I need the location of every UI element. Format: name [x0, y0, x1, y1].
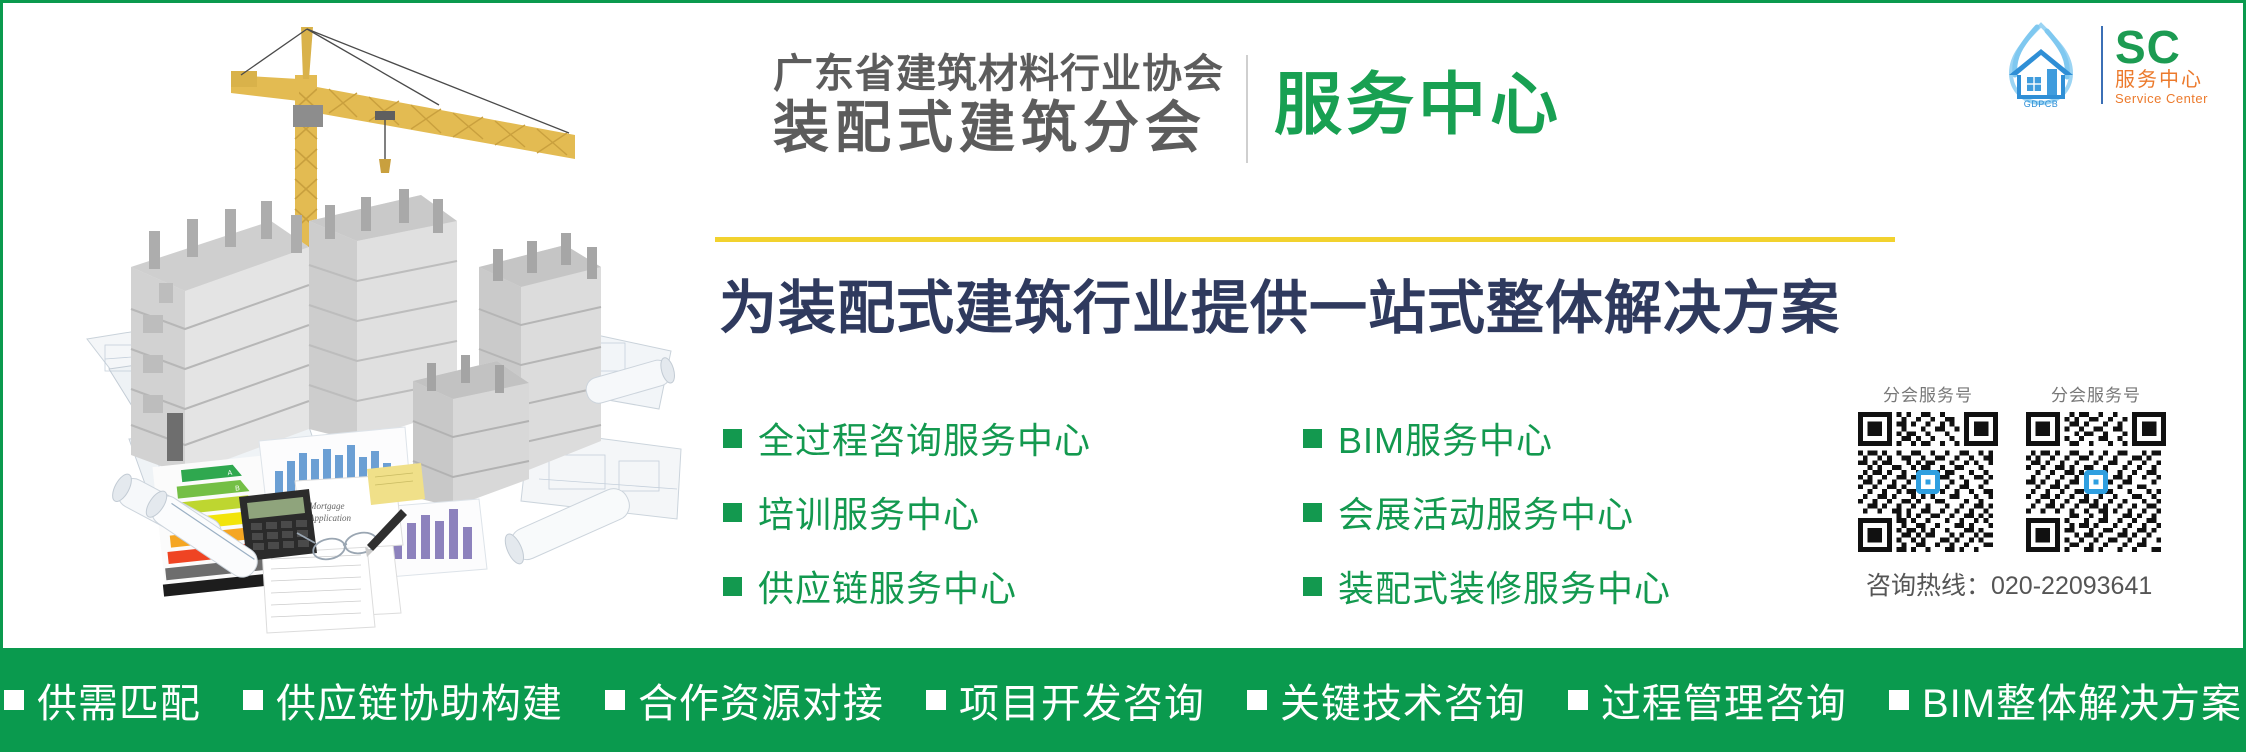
footer-tag-label: 供应链协助构建: [276, 671, 563, 729]
service-label: 供应链服务中心: [758, 560, 1017, 612]
square-bullet-icon: [1889, 690, 1909, 710]
qr-code-icon[interactable]: [1858, 412, 1998, 552]
footer-tag[interactable]: 供应链协助构建: [243, 671, 563, 729]
svg-text:Application: Application: [308, 513, 351, 523]
square-bullet-icon: [1303, 429, 1322, 448]
service-label: 培训服务中心: [758, 486, 980, 538]
square-bullet-icon: [926, 690, 946, 710]
square-bullet-icon: [723, 503, 742, 522]
footer-tag[interactable]: 项目开发咨询: [926, 671, 1205, 729]
square-bullet-icon: [1303, 577, 1322, 596]
footer-tag[interactable]: 过程管理咨询: [1568, 671, 1847, 729]
association-names: 广东省建筑材料行业协会 装配式建筑分会: [773, 51, 1246, 159]
footer-tag-bar: 供需匹配 供应链协助构建 合作资源对接 项目开发咨询 关键技术咨询 过程管理咨询…: [0, 648, 2246, 752]
title-divider: [1246, 55, 1248, 163]
list-item[interactable]: 装配式装修服务中心: [1303, 559, 1793, 613]
logo-english-name: Service Center: [2115, 91, 2208, 106]
svg-text:Mortgage: Mortgage: [308, 501, 345, 511]
list-item[interactable]: 会展活动服务中心: [1303, 485, 1793, 539]
list-item[interactable]: BIM服务中心: [1303, 411, 1793, 465]
branch-name: 装配式建筑分会: [773, 97, 1207, 159]
sticky-note: [367, 463, 425, 505]
square-bullet-icon: [1247, 690, 1267, 710]
footer-tag-label: 合作资源对接: [638, 671, 884, 729]
service-center-title: 服务中心: [1274, 51, 1562, 159]
footer-tag-label: 供需匹配: [37, 671, 201, 729]
footer-tag[interactable]: 供需匹配: [4, 671, 201, 729]
hotline-text: 咨询热线：020-22093641: [1866, 566, 2208, 602]
service-center-logo: GDPCB SC 服务中心 Service Center: [1993, 17, 2241, 113]
qr-code-block: 分会服务号: [1858, 381, 2208, 602]
footer-tag-label: BIM整体解决方案: [1922, 671, 2242, 729]
yellow-divider-rule: [715, 237, 1895, 242]
square-bullet-icon: [4, 690, 24, 710]
qr-caption: 分会服务号: [2026, 381, 2166, 406]
service-label: 全过程咨询服务中心: [758, 412, 1091, 464]
qr-code-cell: 分会服务号: [1858, 381, 1998, 552]
service-label: 会展活动服务中心: [1338, 486, 1634, 538]
logo-chinese-name: 服务中心: [2115, 69, 2208, 91]
footer-tag[interactable]: BIM整体解决方案: [1889, 671, 2242, 729]
square-bullet-icon: [1303, 503, 1322, 522]
title-block: 广东省建筑材料行业协会 装配式建筑分会 服务中心: [773, 51, 1913, 166]
list-item[interactable]: 培训服务中心: [723, 485, 1303, 539]
footer-tag[interactable]: 关键技术咨询: [1247, 671, 1526, 729]
qr-code-cell: 分会服务号: [2026, 381, 2166, 552]
logo-divider: [2101, 26, 2103, 104]
construction-illustration: AB CD EF GH: [9, 9, 699, 639]
promotional-banner: AB CD EF GH: [0, 0, 2246, 752]
service-column-left: 全过程咨询服务中心 培训服务中心 供应链服务中心: [723, 411, 1303, 633]
qr-caption: 分会服务号: [1858, 381, 1998, 406]
service-label: 装配式装修服务中心: [1338, 560, 1671, 612]
square-bullet-icon: [243, 690, 263, 710]
list-item[interactable]: 全过程咨询服务中心: [723, 411, 1303, 465]
service-center-list: 全过程咨询服务中心 培训服务中心 供应链服务中心 BIM服务中心 会展活动服务中…: [723, 411, 1793, 633]
logo-wordmark: SC 服务中心 Service Center: [2115, 25, 2208, 106]
logo-initials: SC: [2115, 25, 2208, 69]
house-flame-logo-icon: GDPCB: [1993, 19, 2089, 111]
square-bullet-icon: [1568, 690, 1588, 710]
square-bullet-icon: [723, 429, 742, 448]
service-column-right: BIM服务中心 会展活动服务中心 装配式装修服务中心: [1303, 411, 1793, 633]
square-bullet-icon: [605, 690, 625, 710]
footer-tag-label: 项目开发咨询: [959, 671, 1205, 729]
square-bullet-icon: [723, 577, 742, 596]
footer-tag-label: 过程管理咨询: [1601, 671, 1847, 729]
association-name: 广东省建筑材料行业协会: [773, 51, 1224, 97]
page-subtitle: 为装配式建筑行业提供一站式整体解决方案: [719, 261, 1959, 345]
construction-hero-image: AB CD EF GH: [9, 9, 699, 639]
list-item[interactable]: 供应链服务中心: [723, 559, 1303, 613]
logo-mark-caption: GDPCB: [2001, 99, 2081, 109]
footer-tag-label: 关键技术咨询: [1280, 671, 1526, 729]
qr-code-row: 分会服务号: [1858, 381, 2208, 552]
qr-code-icon[interactable]: [2026, 412, 2166, 552]
footer-tag[interactable]: 合作资源对接: [605, 671, 884, 729]
service-label: BIM服务中心: [1338, 412, 1553, 464]
